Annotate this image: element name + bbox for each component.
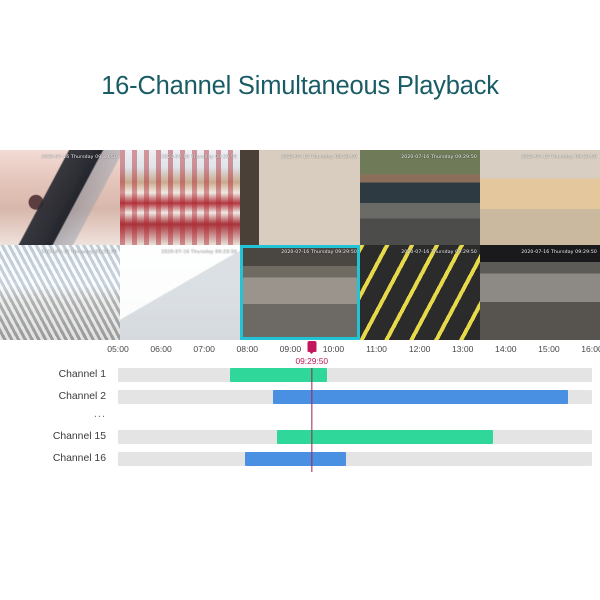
channel-row: Channel 15 [0, 430, 600, 452]
video-timestamp: 2020-07-16 Thursday 09:29:50 [480, 250, 597, 255]
video-tile-2[interactable]: 2020-07-16 Thursday 09:29:50 [120, 150, 240, 245]
video-timestamp: 2020-07-16 Thursday 09:29:50 [0, 155, 117, 160]
channel-row: Channel 16 [0, 452, 600, 474]
recording-segment[interactable] [277, 430, 492, 444]
video-timestamp: 2020-07-16 Thursday 09:29:50 [360, 250, 477, 255]
playhead-line[interactable] [311, 368, 312, 472]
channel-ellipsis-row: ... [0, 412, 600, 430]
video-tile-5[interactable]: 2020-07-16 Thursday 09:29:50 [480, 150, 600, 245]
video-tile-8[interactable]: 2020-07-16 Thursday 09:29:50 [240, 245, 360, 340]
playhead-marker-icon[interactable] [307, 341, 316, 352]
video-timestamp: 2020-07-16 Thursday 09:29:50 [120, 155, 237, 160]
timeline-tick-15-00: 15:00 [538, 344, 560, 354]
timeline-tick-09-00: 09:00 [280, 344, 302, 354]
channel-label: Channel 16 [0, 452, 106, 466]
channel-ellipsis-label: ... [0, 408, 106, 420]
channel-label: Channel 15 [0, 430, 106, 444]
channel-track[interactable] [118, 368, 592, 382]
timeline-tick-08-00: 08:00 [237, 344, 259, 354]
video-timestamp: 2020-07-16 Thursday 09:29:50 [120, 250, 237, 255]
video-tile-1[interactable]: 2020-07-16 Thursday 09:29:50 [0, 150, 120, 245]
timeline-tick-16-00: 16:00 [581, 344, 600, 354]
timeline-ruler[interactable]: 05:0006:0007:0008:0009:0010:0011:0012:00… [0, 340, 600, 362]
channel-label: Channel 2 [0, 390, 106, 404]
video-tile-7[interactable]: 2020-07-16 Thursday 09:29:50 [120, 245, 240, 340]
channel-row: Channel 1 [0, 368, 600, 390]
playback-timeline[interactable]: 05:0006:0007:0008:0009:0010:0011:0012:00… [0, 340, 600, 480]
recording-segment[interactable] [230, 368, 327, 382]
timeline-tick-06-00: 06:00 [150, 344, 172, 354]
video-tile-10[interactable]: 2020-07-16 Thursday 09:29:50 [480, 245, 600, 340]
video-tile-6[interactable]: 2020-07-16 Thursday 09:29:50 [0, 245, 120, 340]
timeline-tick-05-00: 05:00 [107, 344, 129, 354]
timeline-tick-12-00: 12:00 [409, 344, 431, 354]
timeline-tick-11-00: 11:00 [366, 344, 387, 354]
video-tile-4[interactable]: 2020-07-16 Thursday 09:29:50 [360, 150, 480, 245]
video-wall-grid: 2020-07-16 Thursday 09:29:502020-07-16 T… [0, 150, 600, 340]
video-timestamp: 2020-07-16 Thursday 09:29:50 [0, 250, 117, 255]
timeline-tick-07-00: 07:00 [193, 344, 215, 354]
video-tile-3[interactable]: 2020-07-16 Thursday 09:29:50 [240, 150, 360, 245]
video-timestamp: 2020-07-16 Thursday 09:29:50 [240, 250, 357, 255]
page-title: 16-Channel Simultaneous Playback [0, 72, 600, 101]
video-timestamp: 2020-07-16 Thursday 09:29:50 [480, 155, 597, 160]
channel-label: Channel 1 [0, 368, 106, 382]
video-tile-9[interactable]: 2020-07-16 Thursday 09:29:50 [360, 245, 480, 340]
timeline-rows: Channel 1Channel 2...Channel 15Channel 1… [0, 368, 600, 474]
timeline-tick-13-00: 13:00 [452, 344, 474, 354]
video-timestamp: 2020-07-16 Thursday 09:29:50 [360, 155, 477, 160]
channel-track[interactable] [118, 430, 592, 444]
video-timestamp: 2020-07-16 Thursday 09:29:50 [240, 155, 357, 160]
recording-segment[interactable] [273, 390, 568, 404]
channel-track[interactable] [118, 390, 592, 404]
timeline-tick-10-00: 10:00 [323, 344, 345, 354]
playhead-time-label: 09:29:50 [295, 356, 328, 366]
timeline-tick-14-00: 14:00 [495, 344, 517, 354]
channel-track[interactable] [118, 452, 592, 466]
recording-segment[interactable] [245, 452, 346, 466]
